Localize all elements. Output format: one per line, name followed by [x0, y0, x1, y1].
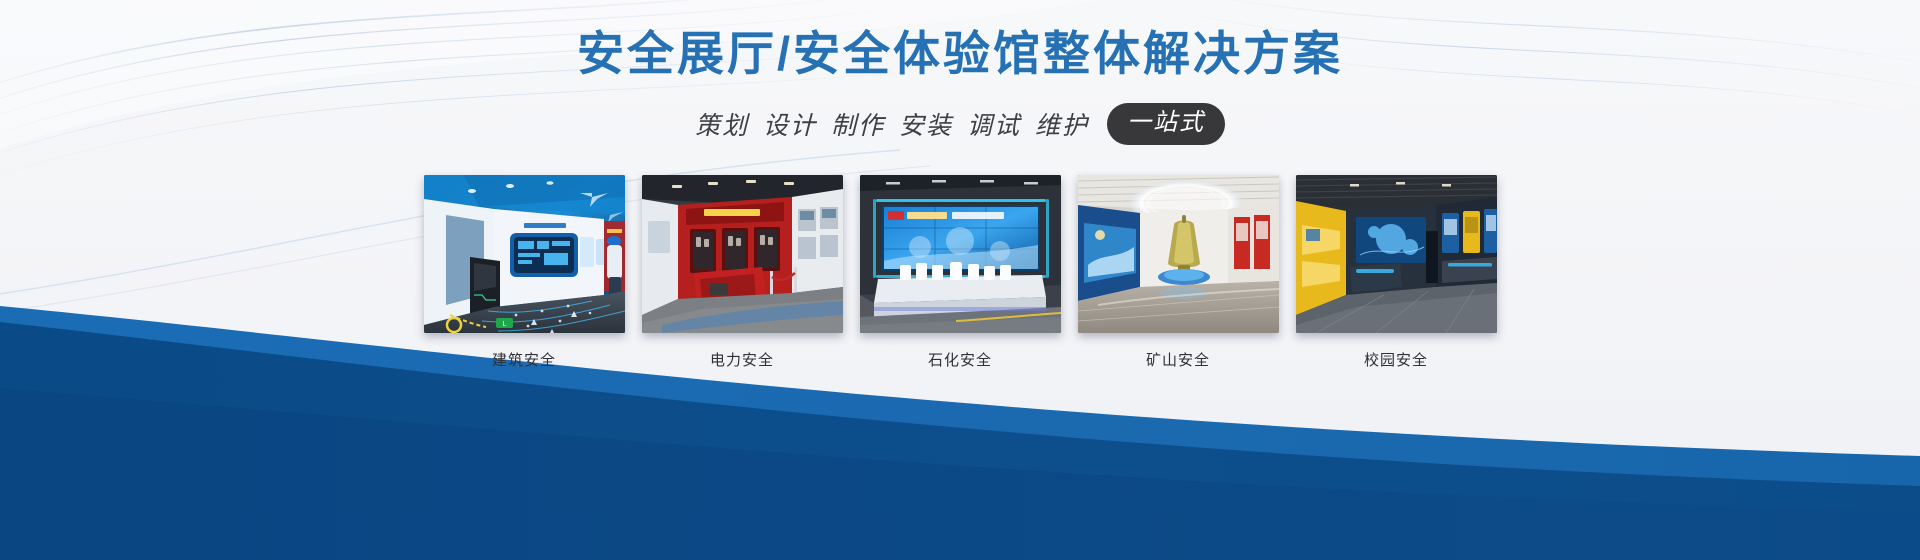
gallery-card-electric[interactable]: 电力安全: [642, 175, 843, 370]
service-step-design: 设计: [763, 106, 817, 142]
thumbnail-image-electric[interactable]: [642, 175, 843, 333]
thumbnail-image-construction[interactable]: L: [424, 175, 625, 333]
gallery-card-mining[interactable]: 矿山安全: [1078, 175, 1279, 370]
thumbnail-image-petrochemical[interactable]: [860, 175, 1061, 333]
service-step-debugging: 调试: [967, 106, 1021, 142]
svg-text:L: L: [502, 321, 506, 328]
gallery-caption-mining: 矿山安全: [1146, 349, 1210, 370]
one-stop-badge: 一站式: [1107, 103, 1225, 145]
gallery-caption-construction: 建筑安全: [492, 349, 556, 370]
service-step-maintenance: 维护: [1035, 106, 1089, 142]
gallery-card-petrochemical[interactable]: 石化安全: [860, 175, 1061, 370]
gallery-caption-petrochemical: 石化安全: [928, 349, 992, 370]
page-title: 安全展厅/安全体验馆整体解决方案: [577, 26, 1343, 81]
thumbnail-image-mining[interactable]: [1078, 175, 1279, 333]
gallery-card-construction[interactable]: L 建筑安全: [424, 175, 625, 370]
banner-content: 安全展厅/安全体验馆整体解决方案 策划 设计 制作 安装 调试 维护 一站式: [0, 0, 1920, 560]
banner-root: 安全展厅/安全体验馆整体解决方案 策划 设计 制作 安装 调试 维护 一站式: [0, 0, 1920, 560]
service-steps: 策划 设计 制作 安装 调试 维护 一站式: [695, 103, 1225, 145]
service-step-installation: 安装: [899, 106, 953, 142]
service-step-planning: 策划: [695, 106, 749, 142]
gallery-card-campus[interactable]: 校园安全: [1296, 175, 1497, 370]
thumbnail-image-campus[interactable]: [1296, 175, 1497, 333]
thumbnail-gallery: L 建筑安全: [424, 175, 1497, 370]
gallery-caption-campus: 校园安全: [1364, 349, 1428, 370]
gallery-caption-electric: 电力安全: [710, 349, 774, 370]
service-step-production: 制作: [831, 106, 885, 142]
